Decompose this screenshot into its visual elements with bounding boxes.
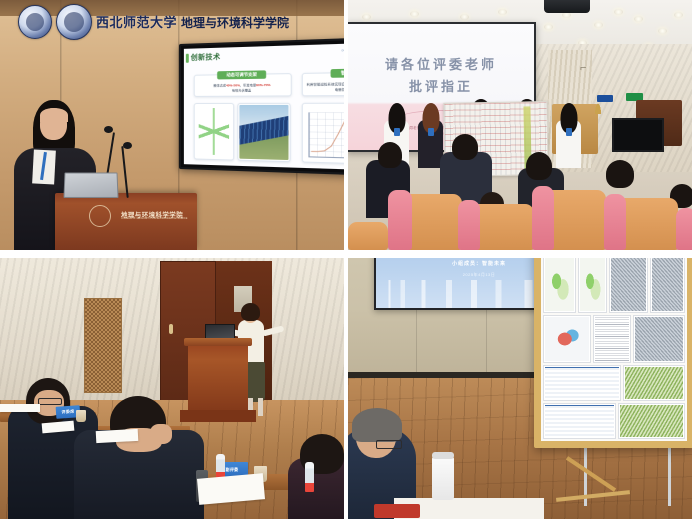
university-seal-icon bbox=[18, 5, 52, 39]
banner-university: 西北师范大学 bbox=[96, 16, 177, 29]
photo-top-left-speaker: 西北师范大学 地理与环境科学学院 创新技术 04 动态可调节支架 整体达成40%… bbox=[0, 0, 344, 250]
ceiling-light bbox=[614, 9, 623, 15]
audience-head bbox=[526, 152, 552, 180]
slide-card-b: 智能运维 利用智能巡检系统实现自动化监测，减少运维成本，年发电量损失降低约12% bbox=[302, 71, 344, 96]
ceiling-light bbox=[460, 14, 469, 20]
slide-title: 创新技术 bbox=[191, 52, 221, 63]
research-poster: 西北师范大学 地理与环境科学学院 bbox=[541, 258, 687, 441]
podium-emblem-icon bbox=[89, 205, 111, 227]
podium: 地理与环境科学学院 COLLEGE OF GEOGRAPHY AND ENVIR… bbox=[55, 193, 197, 250]
poster-cell bbox=[618, 403, 685, 439]
ceiling-light bbox=[594, 22, 603, 28]
slide-card-b-header: 智能运维 bbox=[331, 68, 344, 78]
ceiling-projector bbox=[544, 0, 590, 13]
poster-cell bbox=[609, 258, 647, 313]
easel-leg bbox=[668, 448, 671, 506]
audience-head bbox=[606, 160, 634, 188]
slide-figure-pv-photo bbox=[237, 103, 290, 162]
wall-bracket-icon: ⌐ bbox=[580, 62, 586, 74]
photo-bottom-left-defense: 评委席 副评委 bbox=[0, 258, 344, 519]
poster-section bbox=[543, 365, 685, 401]
poster-cell bbox=[593, 315, 631, 363]
ceiling-light bbox=[674, 12, 683, 18]
slide-card-a-header: 动态可调节支架 bbox=[217, 70, 266, 80]
ceiling-light bbox=[544, 24, 553, 30]
wooden-lectern bbox=[188, 340, 248, 418]
college-seal-icon bbox=[56, 4, 92, 40]
seat bbox=[532, 186, 554, 250]
ceiling-light bbox=[410, 11, 419, 17]
judge-hand bbox=[150, 424, 172, 444]
seated-judge-lanyard bbox=[374, 504, 420, 518]
slide-figure-chart bbox=[302, 103, 344, 166]
ceiling-light bbox=[634, 16, 643, 22]
schematic-diagram bbox=[620, 405, 683, 437]
audience-head bbox=[378, 142, 402, 168]
poster-section bbox=[543, 315, 685, 363]
ceiling-light bbox=[658, 28, 667, 34]
lectern-base bbox=[180, 410, 256, 422]
photovoltaic-array-icon bbox=[239, 105, 288, 160]
water-bottle bbox=[305, 462, 314, 492]
seat bbox=[348, 222, 388, 250]
student-badge bbox=[394, 128, 400, 136]
map-panel bbox=[545, 258, 574, 311]
slide-figure-support-diagram bbox=[194, 103, 234, 161]
support-structure-icon bbox=[199, 108, 229, 155]
auditorium-seating bbox=[348, 164, 692, 250]
document bbox=[96, 429, 139, 443]
thermos-mug bbox=[432, 456, 454, 500]
student-badge bbox=[566, 128, 572, 136]
seat bbox=[458, 200, 480, 250]
poster-cell bbox=[650, 258, 685, 313]
output-line-chart bbox=[308, 112, 344, 159]
flow-diagram bbox=[625, 367, 683, 399]
seated-judge-hair bbox=[352, 408, 402, 442]
seat bbox=[388, 190, 412, 250]
wooden-acoustic-grille bbox=[84, 298, 122, 393]
slide-page-marker: 04 bbox=[342, 49, 344, 52]
college-banner: 西北师范大学 地理与环境科学学院 bbox=[18, 2, 270, 42]
banner-college: 地理与环境科学学院 bbox=[181, 14, 289, 31]
presenter-hair bbox=[241, 303, 260, 321]
presenter-leg bbox=[258, 398, 263, 416]
student bbox=[556, 106, 581, 168]
podium-college-sub: COLLEGE OF GEOGRAPHY AND ENVIRONMENTAL S… bbox=[121, 218, 187, 220]
judge-glasses-icon bbox=[38, 398, 62, 405]
wall-seam bbox=[416, 310, 417, 372]
chart-curve-icon bbox=[310, 112, 344, 154]
poster-board: 西北师范大学 地理与环境科学学院 bbox=[534, 258, 692, 448]
slide-card-b-body: 利用智能巡检系统实现自动化监测，减少运维成本，年发电量损失降低约12% bbox=[306, 81, 344, 92]
photo-top-right-students: ⌐ 请各位评委老师 批评指正 指导老师：××× 教授 ／ 报告人：××× ×××… bbox=[348, 0, 692, 250]
poster-cell bbox=[578, 258, 608, 313]
poster-cell bbox=[623, 365, 685, 401]
wall-seam bbox=[486, 310, 487, 372]
screen-line-2: 批评指正 bbox=[348, 76, 534, 95]
document bbox=[0, 404, 40, 412]
side-monitor bbox=[612, 118, 664, 152]
analysis-map bbox=[545, 317, 589, 361]
speaker-laptop bbox=[63, 173, 118, 198]
map-panel bbox=[580, 258, 606, 311]
lectern-top bbox=[184, 338, 252, 346]
thermos-mug-cap bbox=[432, 452, 454, 459]
poster-cell bbox=[633, 315, 685, 363]
ceiling-light bbox=[362, 14, 371, 20]
ceiling-light bbox=[498, 9, 507, 15]
results-table bbox=[545, 405, 614, 437]
diagram bbox=[595, 317, 629, 361]
student-badge bbox=[428, 128, 434, 136]
poster-cell bbox=[543, 365, 621, 401]
audience-head bbox=[452, 134, 478, 160]
photo-collage: 西北师范大学 地理与环境科学学院 创新技术 04 动态可调节支架 整体达成40%… bbox=[0, 0, 692, 519]
student bbox=[418, 106, 443, 168]
photo-bottom-right-poster-board: 小组成员：智能未来 2025年4月13日 西北师范大学 地理与环境科学学院 bbox=[348, 258, 692, 519]
screen-line-1: 请各位评委老师 bbox=[348, 54, 534, 73]
slide-card-a: 动态可调节支架 整体达成40%-50%，年发电量60%-70%有效光伏覆盖 bbox=[194, 73, 292, 97]
satellite-image bbox=[611, 258, 645, 311]
seat bbox=[604, 194, 626, 250]
poster-section bbox=[543, 403, 685, 439]
seated-judge-glasses-icon bbox=[376, 440, 402, 449]
aerial-image bbox=[635, 317, 683, 361]
data-table bbox=[545, 367, 619, 399]
wall-mounted-tv: 创新技术 04 动态可调节支架 整体达成40%-50%，年发电量60%-70%有… bbox=[179, 38, 344, 175]
poster-cell bbox=[543, 315, 591, 363]
satellite-image bbox=[652, 258, 683, 311]
speaker-head bbox=[40, 108, 67, 140]
poster-cell bbox=[543, 403, 616, 439]
microphone-head-left bbox=[104, 126, 113, 133]
decorative-plant bbox=[591, 90, 605, 114]
microphone-head-right bbox=[123, 142, 132, 149]
paper-cup bbox=[76, 410, 86, 422]
seat bbox=[676, 208, 692, 250]
presentation-slide: 创新技术 04 动态可调节支架 整体达成40%-50%，年发电量60%-70%有… bbox=[184, 44, 344, 170]
poster-section bbox=[543, 258, 685, 313]
slide-card-a-body: 整体达成40%-50%，年发电量60%-70%有效光伏覆盖 bbox=[198, 83, 288, 93]
poster-cell bbox=[543, 258, 576, 313]
